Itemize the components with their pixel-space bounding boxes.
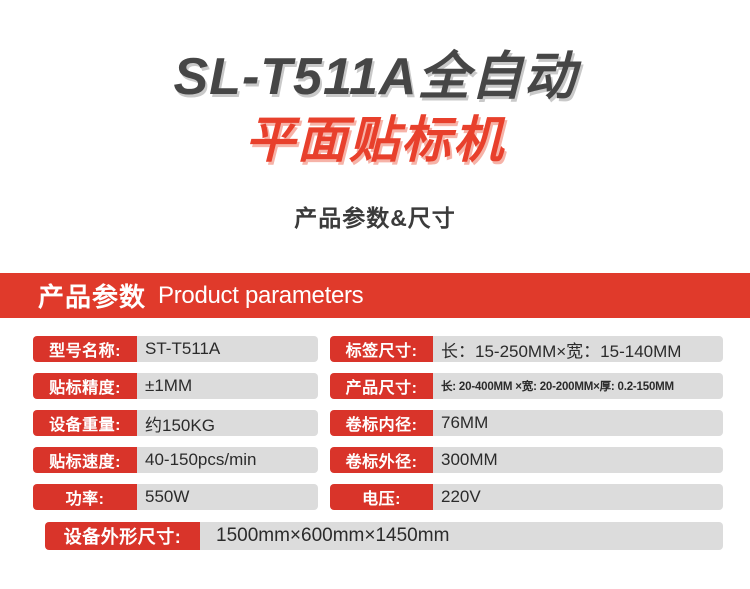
product-parameters-banner: 产品参数 Product parameters [0,273,750,318]
spec-value: 1500mm×600mm×1450mm [200,522,723,550]
spec-value: 40-150pcs/min [137,447,318,473]
spec-value: 550W [137,484,318,510]
spec-label: 卷标内径: [330,410,433,436]
spec-value: 300MM [433,447,723,473]
spec-value: ST-T511A [137,336,318,362]
spec-label: 贴标精度: [33,373,137,399]
spec-label: 贴标速度: [33,447,137,473]
spec-row: 卷标内径: 76MM [330,410,723,436]
spec-row: 电压: 220V [330,484,723,510]
spec-row-overall-dimensions: 设备外形尺寸: 1500mm×600mm×1450mm [45,522,723,550]
spec-label: 型号名称: [33,336,137,362]
spec-label: 功率: [33,484,137,510]
banner-title-en: Product parameters [158,282,363,310]
spec-label: 卷标外径: [330,447,433,473]
spec-value: 220V [433,484,723,510]
spec-row: 卷标外径: 300MM [330,447,723,473]
spec-row: 贴标速度: 40-150pcs/min [33,447,318,473]
hero-title-secondary: 平面贴标机 [0,112,750,168]
spec-value: 76MM [433,410,723,436]
banner-title-cn: 产品参数 [38,277,146,314]
spec-row: 型号名称: ST-T511A [33,336,318,362]
spec-row: 产品尺寸: 长: 20-400MM ×宽: 20-200MM×厚: 0.2-15… [330,373,723,399]
spec-row: 标签尺寸: 长：15-250MM×宽：15-140MM [330,336,723,362]
section-subheading: 产品参数&尺寸 [0,203,750,233]
spec-label: 产品尺寸: [330,373,433,399]
hero-title-primary: SL-T511A全自动 [0,48,750,106]
product-parameters-page: SL-T511A全自动 平面贴标机 产品参数&尺寸 产品参数 Product p… [0,0,750,589]
spec-value: 约150KG [137,410,318,436]
spec-value: 长: 20-400MM ×宽: 20-200MM×厚: 0.2-150MM [433,373,723,399]
hero-title-block: SL-T511A全自动 平面贴标机 [0,0,750,190]
spec-row: 贴标精度: ±1MM [33,373,318,399]
spec-value: ±1MM [137,373,318,399]
spec-label: 设备重量: [33,410,137,436]
spec-label: 设备外形尺寸: [45,522,200,550]
spec-row: 设备重量: 约150KG [33,410,318,436]
spec-value: 长：15-250MM×宽：15-140MM [433,336,723,362]
spec-table: 型号名称: ST-T511A 贴标精度: ±1MM 设备重量: 约150KG 贴… [0,336,750,546]
spec-row: 功率: 550W [33,484,318,510]
spec-label: 电压: [330,484,433,510]
spec-label: 标签尺寸: [330,336,433,362]
